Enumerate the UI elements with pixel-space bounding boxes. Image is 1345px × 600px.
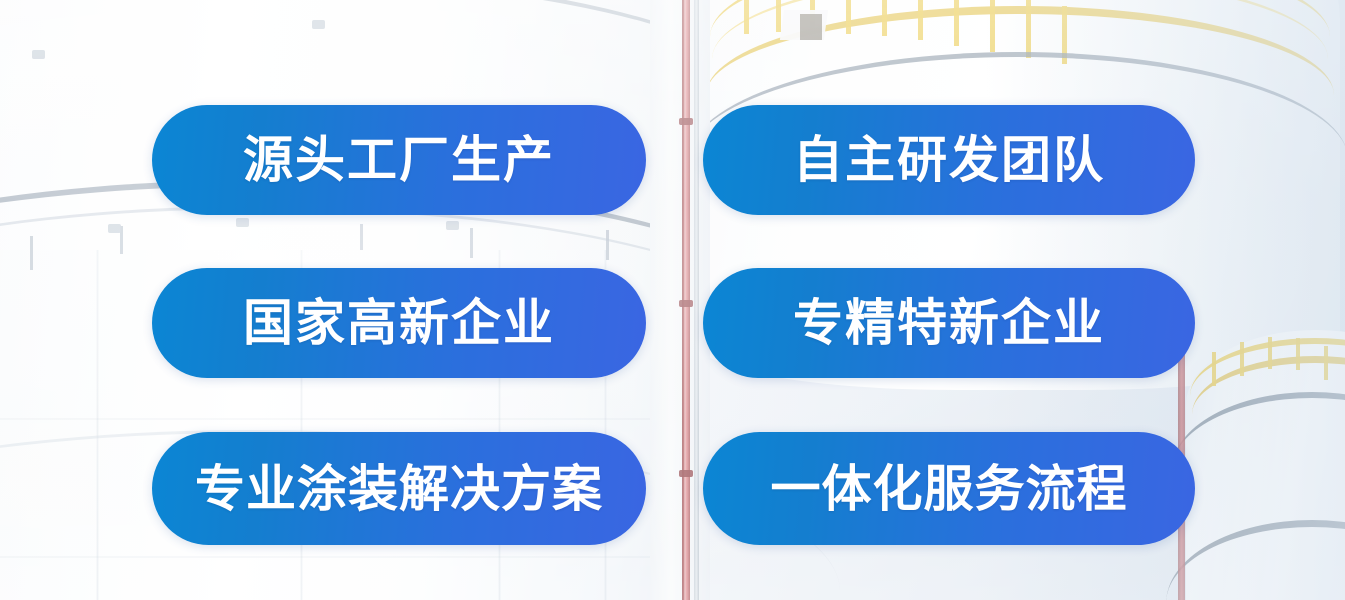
banner-canvas: 源头工厂生产 自主研发团队 国家高新企业 专精特新企业 专业涂装解决方案 一体化… xyxy=(0,0,1345,600)
badge-specialized-new-enterprise[interactable]: 专精特新企业 xyxy=(703,268,1195,378)
badge-national-hi-tech-enterprise[interactable]: 国家高新企业 xyxy=(152,268,646,378)
badge-label: 一体化服务流程 xyxy=(771,464,1128,514)
advantage-badge-grid: 源头工厂生产 自主研发团队 国家高新企业 专精特新企业 专业涂装解决方案 一体化… xyxy=(0,0,1345,600)
badge-label: 国家高新企业 xyxy=(243,298,555,348)
badge-integrated-service-process[interactable]: 一体化服务流程 xyxy=(703,432,1195,545)
badge-source-factory-production[interactable]: 源头工厂生产 xyxy=(152,105,646,215)
badge-professional-coating-solution[interactable]: 专业涂装解决方案 xyxy=(152,432,646,545)
badge-in-house-rnd-team[interactable]: 自主研发团队 xyxy=(703,105,1195,215)
badge-label: 源头工厂生产 xyxy=(243,135,555,185)
badge-label: 专精特新企业 xyxy=(793,298,1105,348)
badge-label: 专业涂装解决方案 xyxy=(195,464,603,514)
badge-label: 自主研发团队 xyxy=(793,135,1105,185)
